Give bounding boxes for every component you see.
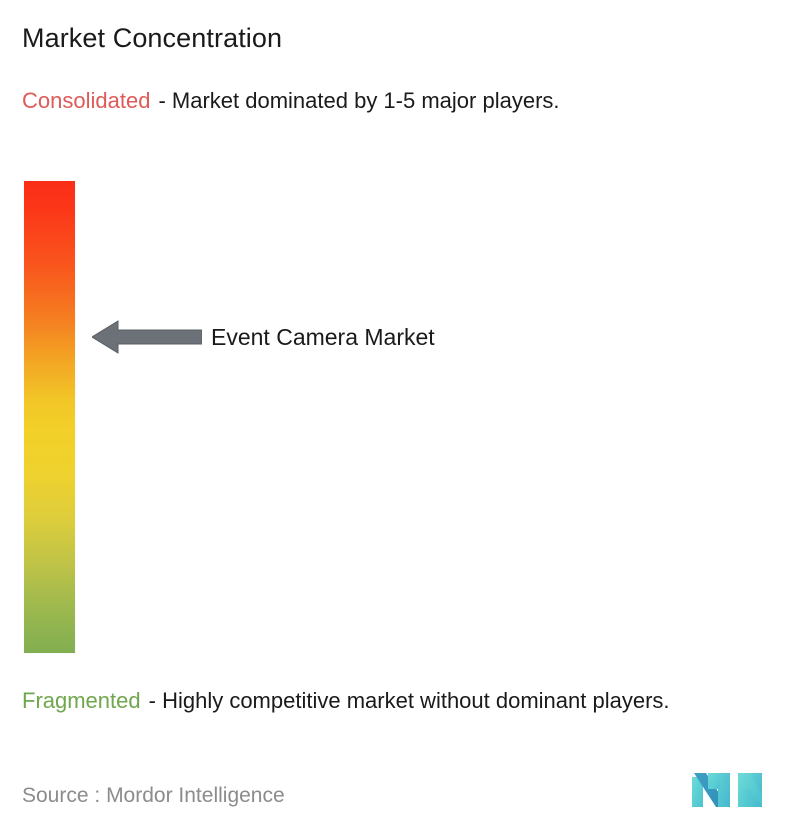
mordor-intelligence-logo-icon: [692, 769, 774, 809]
concentration-gradient-bar: [24, 181, 75, 653]
source-attribution: Source : Mordor Intelligence: [22, 782, 285, 810]
pointer-label-event-camera-market: Event Camera Market: [211, 322, 435, 352]
caption-consolidated: Consolidated- Market dominated by 1-5 ma…: [22, 85, 762, 116]
source-name: Mordor Intelligence: [106, 784, 285, 807]
caption-fragmented: Fragmented- Highly competitive market wi…: [22, 685, 784, 716]
caption-description-bottom: Highly competitive market without domina…: [162, 688, 669, 713]
caption-description-top: Market dominated by 1-5 major players.: [172, 88, 560, 113]
source-label: Source :: [22, 784, 100, 807]
market-concentration-infographic: Market Concentration Consolidated- Marke…: [0, 0, 796, 834]
label-fragmented: Fragmented: [22, 688, 141, 713]
label-consolidated: Consolidated: [22, 88, 150, 113]
left-arrow-icon: [92, 318, 202, 356]
page-title: Market Concentration: [22, 21, 282, 55]
caption-separator-top: -: [158, 88, 165, 113]
caption-separator-bottom: -: [149, 688, 156, 713]
